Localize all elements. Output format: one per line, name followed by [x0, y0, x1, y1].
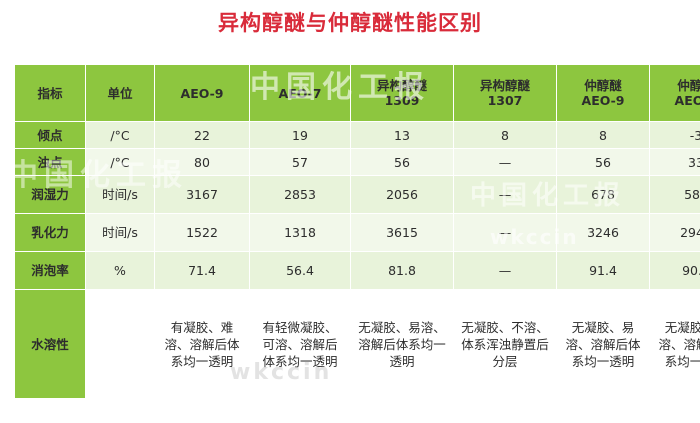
row-header-defoaming: 消泡率 — [15, 252, 86, 290]
column-header-aeo7: AEO-7 — [250, 65, 351, 122]
table-row: 消泡率 % 71.4 56.4 81.8 — 91.4 90.9 — [15, 252, 700, 290]
column-header-iso-1309: 异构醇醚1309 — [351, 65, 454, 122]
cell-emulsifying-iso1309: 3615 — [351, 214, 454, 252]
cell-pour-point-unit: /°C — [86, 122, 155, 149]
row-header-cloud-point: 浊点 — [15, 149, 86, 176]
cell-pour-point-aeo7: 19 — [250, 122, 351, 149]
column-header-iso-1307: 异构醇醚1307 — [454, 65, 557, 122]
cell-water-solubility-unit — [86, 290, 155, 399]
cell-cloud-point-unit: /°C — [86, 149, 155, 176]
row-header-water-solubility: 水溶性 — [15, 290, 86, 399]
row-header-wetting: 润湿力 — [15, 176, 86, 214]
table-row: 浊点 /°C 80 57 56 — 56 33 — [15, 149, 700, 176]
cell-water-solubility-aeo7: 有轻微凝胶、可溶、溶解后体系均一透明 — [250, 290, 351, 399]
cell-cloud-point-iso1309: 56 — [351, 149, 454, 176]
cell-wetting-unit: 时间/s — [86, 176, 155, 214]
cell-wetting-iso1309: 2056 — [351, 176, 454, 214]
cell-defoaming-iso1309: 81.8 — [351, 252, 454, 290]
column-header-sec-aeo7-l1: 仲醇醚 — [677, 78, 700, 93]
column-header-iso-1309-l2: 1309 — [385, 93, 420, 108]
cell-pour-point-sec-aeo9: 8 — [557, 122, 650, 149]
column-header-unit: 单位 — [86, 65, 155, 122]
cell-defoaming-sec-aeo9: 91.4 — [557, 252, 650, 290]
column-header-sec-aeo9: 仲醇醚AEO-9 — [557, 65, 650, 122]
cell-emulsifying-aeo7: 1318 — [250, 214, 351, 252]
cell-water-solubility-sec-aeo7: 无凝胶、易溶、溶解后体系均一透明 — [650, 290, 700, 399]
column-header-sec-aeo9-l1: 仲醇醚 — [584, 78, 622, 93]
cell-emulsifying-iso1307: — — [454, 214, 557, 252]
column-header-indicator: 指标 — [15, 65, 86, 122]
cell-water-solubility-aeo9: 有凝胶、难溶、溶解后体系均一透明 — [155, 290, 250, 399]
cell-defoaming-sec-aeo7: 90.9 — [650, 252, 700, 290]
cell-defoaming-aeo9: 71.4 — [155, 252, 250, 290]
column-header-aeo9: AEO-9 — [155, 65, 250, 122]
page-title: 异构醇醚与仲醇醚性能区别 — [0, 0, 700, 43]
cell-emulsifying-sec-aeo7: 2943 — [650, 214, 700, 252]
cell-water-solubility-iso1307: 无凝胶、不溶、体系浑浊静置后分层 — [454, 290, 557, 399]
column-header-sec-aeo9-l2: AEO-9 — [582, 93, 625, 108]
document-page: 异构醇醚与仲醇醚性能区别 指标 单位 AEO-9 AEO-7 异构醇醚1309 … — [0, 0, 700, 423]
table-header: 指标 单位 AEO-9 AEO-7 异构醇醚1309 异构醇醚1307 仲醇醚A… — [15, 65, 700, 122]
table-header-row: 指标 单位 AEO-9 AEO-7 异构醇醚1309 异构醇醚1307 仲醇醚A… — [15, 65, 700, 122]
column-header-sec-aeo7: 仲醇醚AEO-7 — [650, 65, 700, 122]
cell-cloud-point-aeo7: 57 — [250, 149, 351, 176]
column-header-iso-1307-l1: 异构醇醚 — [480, 78, 530, 93]
cell-wetting-sec-aeo9: 678 — [557, 176, 650, 214]
cell-cloud-point-iso1307: — — [454, 149, 557, 176]
cell-cloud-point-sec-aeo9: 56 — [557, 149, 650, 176]
table-row: 水溶性 有凝胶、难溶、溶解后体系均一透明 有轻微凝胶、可溶、溶解后体系均一透明 … — [15, 290, 700, 399]
cell-pour-point-iso1309: 13 — [351, 122, 454, 149]
cell-defoaming-iso1307: — — [454, 252, 557, 290]
cell-wetting-sec-aeo7: 588 — [650, 176, 700, 214]
table-row: 倾点 /°C 22 19 13 8 8 -3 — [15, 122, 700, 149]
cell-emulsifying-sec-aeo9: 3246 — [557, 214, 650, 252]
cell-cloud-point-aeo9: 80 — [155, 149, 250, 176]
row-header-pour-point: 倾点 — [15, 122, 86, 149]
cell-defoaming-aeo7: 56.4 — [250, 252, 351, 290]
column-header-iso-1307-l2: 1307 — [488, 93, 523, 108]
cell-emulsifying-aeo9: 1522 — [155, 214, 250, 252]
table-body: 倾点 /°C 22 19 13 8 8 -3 浊点 /°C 80 57 56 — — [15, 122, 700, 399]
row-header-emulsifying: 乳化力 — [15, 214, 86, 252]
cell-emulsifying-unit: 时间/s — [86, 214, 155, 252]
performance-table-container: 指标 单位 AEO-9 AEO-7 异构醇醚1309 异构醇醚1307 仲醇醚A… — [14, 64, 686, 399]
cell-pour-point-aeo9: 22 — [155, 122, 250, 149]
cell-wetting-iso1307: — — [454, 176, 557, 214]
column-header-sec-aeo7-l2: AEO-7 — [675, 93, 700, 108]
cell-wetting-aeo7: 2853 — [250, 176, 351, 214]
cell-wetting-aeo9: 3167 — [155, 176, 250, 214]
cell-pour-point-sec-aeo7: -3 — [650, 122, 700, 149]
cell-water-solubility-iso1309: 无凝胶、易溶、溶解后体系均一透明 — [351, 290, 454, 399]
cell-pour-point-iso1307: 8 — [454, 122, 557, 149]
cell-defoaming-unit: % — [86, 252, 155, 290]
cell-cloud-point-sec-aeo7: 33 — [650, 149, 700, 176]
cell-water-solubility-sec-aeo9: 无凝胶、易溶、溶解后体系均一透明 — [557, 290, 650, 399]
table-row: 乳化力 时间/s 1522 1318 3615 — 3246 2943 — [15, 214, 700, 252]
column-header-iso-1309-l1: 异构醇醚 — [377, 78, 427, 93]
performance-table: 指标 单位 AEO-9 AEO-7 异构醇醚1309 异构醇醚1307 仲醇醚A… — [14, 64, 700, 399]
table-row: 润湿力 时间/s 3167 2853 2056 — 678 588 — [15, 176, 700, 214]
